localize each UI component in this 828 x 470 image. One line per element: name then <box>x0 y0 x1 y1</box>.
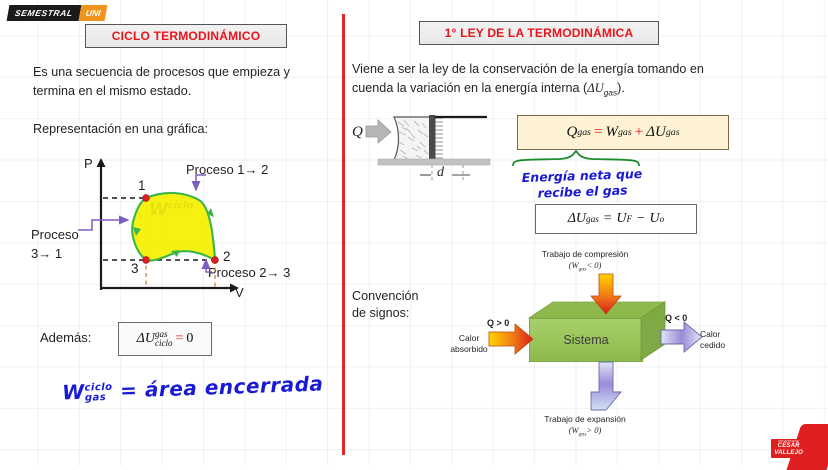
piston-heat-label: Q <box>352 124 363 141</box>
cesar-vallejo-logo: UNIVERSIDAD CESAR VALLEJO <box>760 430 828 466</box>
formula-Q-sub: gas <box>577 127 591 138</box>
handwritten-work-equation: W ciclo gas = área encerrada <box>62 371 324 404</box>
formula-du-Uo-sub: o <box>660 214 665 224</box>
compression-work-line1: Trabajo de compresión <box>542 249 629 259</box>
formula-plus: + <box>632 124 646 141</box>
heat-released-label: Calor cedido <box>700 329 744 351</box>
chart-label-3to1: Proceso 3→ 1 <box>31 225 79 263</box>
right-panel-title: 1° LEY DE LA TERMODINÁMICA <box>419 21 659 45</box>
chart-axis-y-label: P <box>84 156 93 171</box>
left-paragraph-2: Representación en una gráfica: <box>33 120 328 139</box>
formula-du-minus: − <box>632 211 649 227</box>
compression-work-line2b: < 0) <box>586 260 601 270</box>
formula-du-UF: U <box>616 211 626 227</box>
convention-line2: de signos: <box>352 306 409 320</box>
right-paragraph-line1: Viene a ser la ley de la conservación de… <box>352 62 704 76</box>
logo-cesar-text: CESAR <box>774 443 803 450</box>
hw-work-W: W <box>62 380 85 405</box>
formula-equals: = <box>591 124 605 141</box>
logo-uni-text: UNI <box>78 5 107 21</box>
hw-work-equals: = <box>120 378 138 403</box>
formula-du-equals: = <box>599 211 616 227</box>
chart-label-1to2: Proceso 1→ 2 <box>186 162 268 177</box>
chart-point-1-label: 1 <box>138 178 146 193</box>
logo-vallejo-text: VALLEJO <box>774 450 803 457</box>
heat-released-line1: Calor <box>700 329 720 339</box>
heat-released-arrow <box>661 322 702 352</box>
expansion-work-line1: Trabajo de expansión <box>544 414 625 424</box>
left-paragraph: Es una secuencia de procesos que empieza… <box>33 63 328 101</box>
chart-work-label: Wciclo <box>149 200 193 220</box>
formula-du-Uo: U <box>650 211 660 227</box>
formula-first-law: Qgas=Wgas+ΔUgas <box>517 115 729 150</box>
right-paragraph-line2a: cuenda la variación en la energía intern… <box>352 81 587 95</box>
logo-semestral-text: SEMESTRAL <box>7 5 82 21</box>
hw-work-text: área encerrada <box>144 371 323 401</box>
hw-note-line2: recibe el gas <box>537 182 628 200</box>
formula-ciclo-sub: ciclo <box>155 339 173 348</box>
chart-point-3-label: 3 <box>131 261 139 276</box>
heat-released-q-label: Q < 0 <box>665 313 687 323</box>
left-panel-title: CICLO TERMODINÁMICO <box>85 24 287 48</box>
formula-dU: ΔU <box>646 124 666 141</box>
formula-Q: Q <box>566 124 577 141</box>
formula-delta-u: ΔUgas=UF−Uo <box>535 204 697 234</box>
formula-ciclo-delta: Δ <box>137 331 145 347</box>
logo-badge: UNIVERSIDAD CESAR VALLEJO <box>771 439 806 458</box>
formula-W: W <box>605 124 618 141</box>
compression-work-label: Trabajo de compresión (Wgas< 0) <box>519 249 651 276</box>
expansion-arrow <box>591 362 621 410</box>
system-block: Sistema <box>529 318 643 362</box>
heat-absorbed-q-label: Q > 0 <box>487 318 509 328</box>
right-paragraph-delta-u-sub: gas <box>604 88 617 98</box>
formula-ciclo-rhs: 0 <box>186 331 193 347</box>
chart-point-2-label: 2 <box>223 249 231 264</box>
right-paragraph-delta-u: ΔU <box>587 81 604 95</box>
handwritten-energy-note: Energía neta que recibe el gas <box>521 166 643 202</box>
left-paragraph-line2: termina en el mismo estado. <box>33 84 191 98</box>
formula-ciclo-U: U <box>145 331 155 347</box>
formula-du-dU-sub: gas <box>586 214 599 224</box>
green-brace <box>513 151 639 166</box>
right-paragraph: Viene a ser la ley de la conservación de… <box>352 60 820 103</box>
piston-distance-label: d <box>437 165 444 181</box>
chart-work-W: W <box>149 200 168 220</box>
expansion-work-label: Trabajo de expansión (Wgas> 0) <box>519 414 651 441</box>
piston-diagram <box>366 115 490 183</box>
convention-label: Convención de signos: <box>352 288 442 322</box>
chart-label-3to1-line2: 3→ 1 <box>31 246 62 261</box>
formula-delta-u-ciclo: ΔU gas ciclo =0 <box>118 322 212 356</box>
convention-line1: Convención <box>352 289 419 303</box>
compression-work-line2a: (W <box>569 260 579 270</box>
semestral-uni-logo: SEMESTRAL UNI <box>7 5 108 21</box>
expansion-work-line2b: > 0) <box>586 425 601 435</box>
heat-absorbed-arrow <box>489 324 533 354</box>
system-block-label: Sistema <box>563 333 608 347</box>
formula-ciclo-equals: = <box>172 331 186 347</box>
right-paragraph-line2b: ). <box>617 81 625 95</box>
heat-absorbed-label: Calor absorbido <box>443 333 495 355</box>
compression-arrow <box>591 274 621 314</box>
hw-work-sub: gas <box>85 392 113 403</box>
chart-label-3to1-line1: Proceso <box>31 227 79 242</box>
formula-W-sub: gas <box>618 127 632 138</box>
chart-label-2to3: Proceso 2→ 3 <box>208 265 290 280</box>
left-paragraph-line1: Es una secuencia de procesos que empieza… <box>33 65 290 79</box>
formula-dU-sub: gas <box>666 127 680 138</box>
expansion-work-line2a: (W <box>569 425 579 435</box>
heat-released-line2: cedido <box>700 340 725 350</box>
ademas-label: Además: <box>40 328 91 347</box>
formula-du-dU: ΔU <box>568 211 586 227</box>
panel-divider <box>342 14 345 455</box>
chart-axis-x-label: V <box>235 285 244 300</box>
heat-absorbed-line2: absorbido <box>450 344 487 354</box>
heat-absorbed-line1: Calor <box>459 333 479 343</box>
chart-work-sup: ciclo <box>168 200 194 211</box>
